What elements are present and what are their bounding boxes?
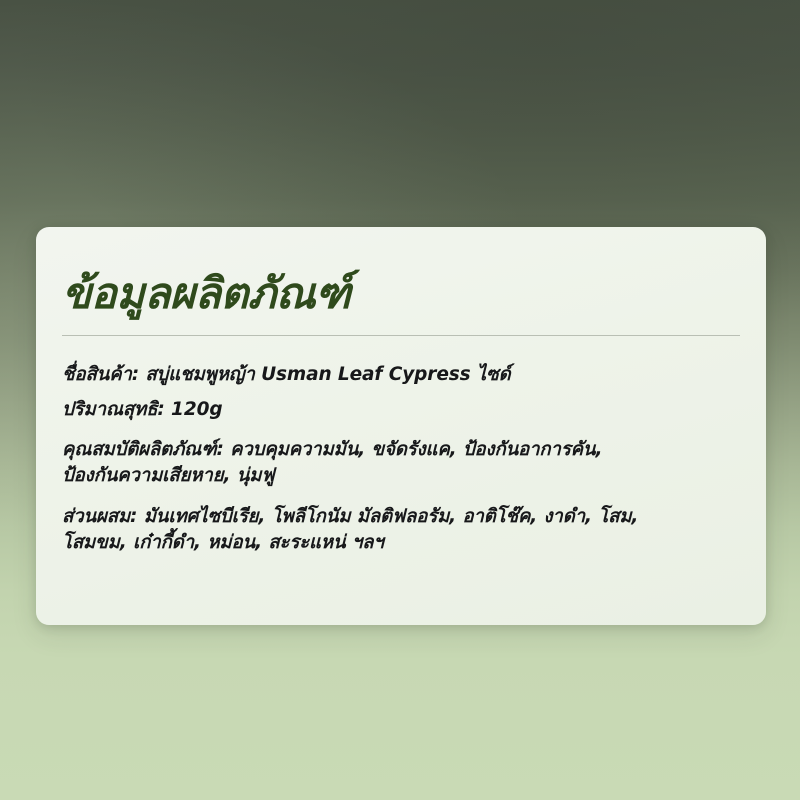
product-name-line: ชื่อสินค้า: สบู่แชมพูหญ้า Usman Leaf Cyp… [62, 362, 740, 388]
product-ingredients: ส่วนผสม: มันเทศไซบีเรีย, โพลีโกนัม มัลติ… [62, 504, 740, 557]
product-properties-line-2: ป้องกันความเสียหาย, นุ่มฟู [62, 463, 740, 489]
title-divider [62, 335, 740, 336]
product-info-card: ข้อมูลผลิตภัณฑ์ ชื่อสินค้า: สบู่แชมพูหญ้… [36, 227, 766, 625]
product-properties: คุณสมบัติผลิตภัณฑ์: ควบคุมความมัน, ขจัดร… [62, 437, 740, 490]
background-canvas: ข้อมูลผลิตภัณฑ์ ชื่อสินค้า: สบู่แชมพูหญ้… [0, 0, 800, 800]
product-properties-line-1: คุณสมบัติผลิตภัณฑ์: ควบคุมความมัน, ขจัดร… [62, 437, 740, 463]
product-details: ชื่อสินค้า: สบู่แชมพูหญ้า Usman Leaf Cyp… [62, 362, 740, 556]
net-weight-line: ปริมาณสุทธิ: 120g [62, 397, 740, 423]
product-ingredients-line-1: ส่วนผสม: มันเทศไซบีเรีย, โพลีโกนัม มัลติ… [62, 504, 740, 530]
page-title: ข้อมูลผลิตภัณฑ์ [62, 271, 740, 317]
product-ingredients-line-2: โสมขม, เก๋ากี้ดำ, หม่อน, สะระแหน่ ฯลฯ [62, 530, 740, 556]
